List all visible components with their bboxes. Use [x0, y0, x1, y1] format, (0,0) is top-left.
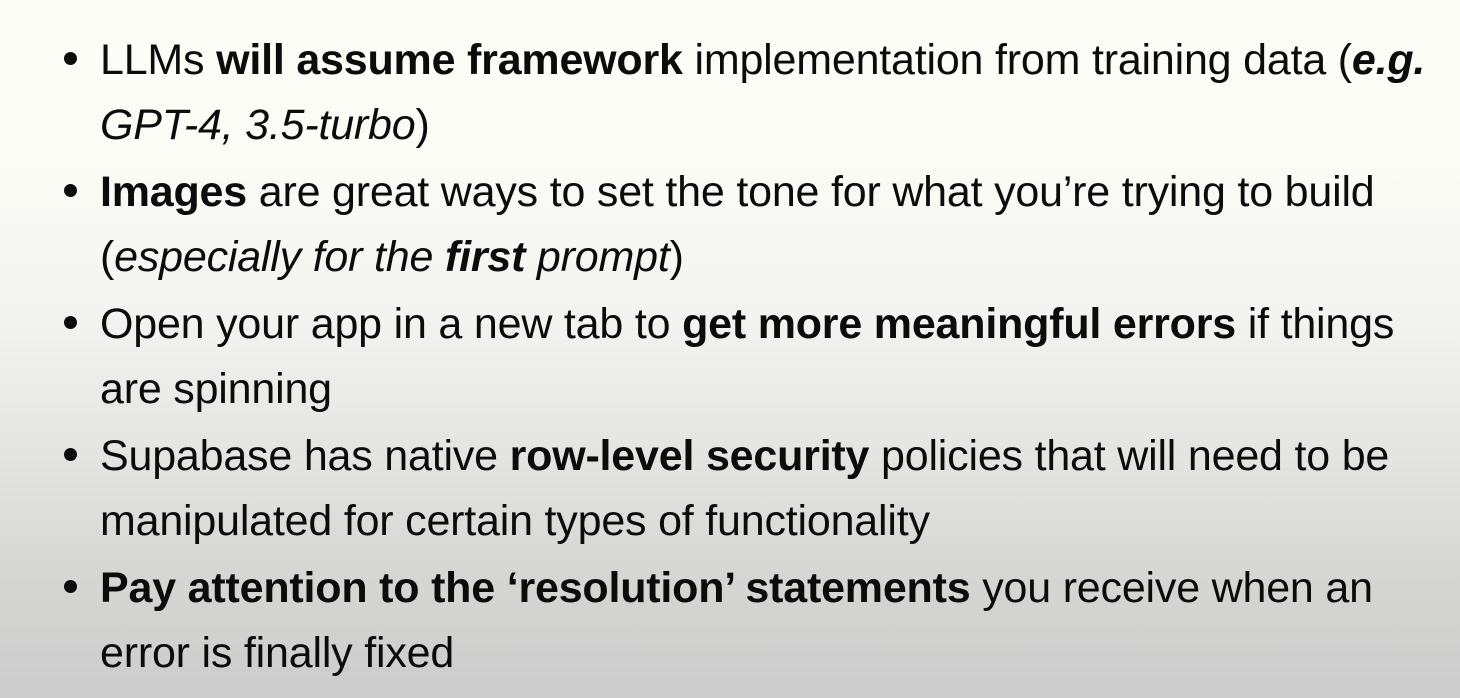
text-run: Images — [100, 168, 247, 216]
text-run: ) — [670, 233, 684, 281]
bullet-dot-icon — [64, 580, 77, 593]
list-item: Open your app in a new tab to get more m… — [56, 292, 1436, 422]
text-run: first — [445, 233, 525, 281]
list-item-text: LLMs will assume framework implementatio… — [100, 36, 1425, 149]
list-item-text: Supabase has native row-level security p… — [100, 432, 1389, 545]
text-run: ) — [415, 101, 429, 149]
text-run: LLMs — [100, 36, 216, 84]
bullet-dot-icon — [64, 52, 77, 65]
text-run: GPT-4, 3.5-turbo — [100, 101, 415, 149]
list-item: Pay attention to the ‘resolution’ statem… — [56, 556, 1436, 686]
list-item-text: Images are great ways to set the tone fo… — [100, 168, 1375, 281]
text-run: implementation from training data ( — [683, 36, 1352, 84]
bullet-dot-icon — [64, 184, 77, 197]
bullet-dot-icon — [64, 316, 77, 329]
text-run: Supabase has native — [100, 432, 510, 480]
text-run: get more meaningful errors — [682, 300, 1236, 348]
list-item-text: Open your app in a new tab to get more m… — [100, 300, 1394, 413]
text-run: prompt — [525, 233, 669, 281]
text-run: will assume framework — [216, 36, 683, 84]
text-run: row-level security — [510, 432, 870, 480]
text-run: e.g. — [1352, 36, 1425, 84]
text-run: especially for the — [114, 233, 445, 281]
slide-canvas: LLMs will assume framework implementatio… — [0, 0, 1460, 698]
bullet-list: LLMs will assume framework implementatio… — [56, 28, 1440, 686]
list-item: LLMs will assume framework implementatio… — [56, 28, 1436, 158]
list-item-text: Pay attention to the ‘resolution’ statem… — [100, 564, 1373, 677]
text-run: Open your app in a new tab to — [100, 300, 682, 348]
list-item: Supabase has native row-level security p… — [56, 424, 1436, 554]
text-run: Pay attention to the ‘resolution’ statem… — [100, 564, 970, 612]
bullet-dot-icon — [64, 448, 77, 461]
list-item: Images are great ways to set the tone fo… — [56, 160, 1436, 290]
